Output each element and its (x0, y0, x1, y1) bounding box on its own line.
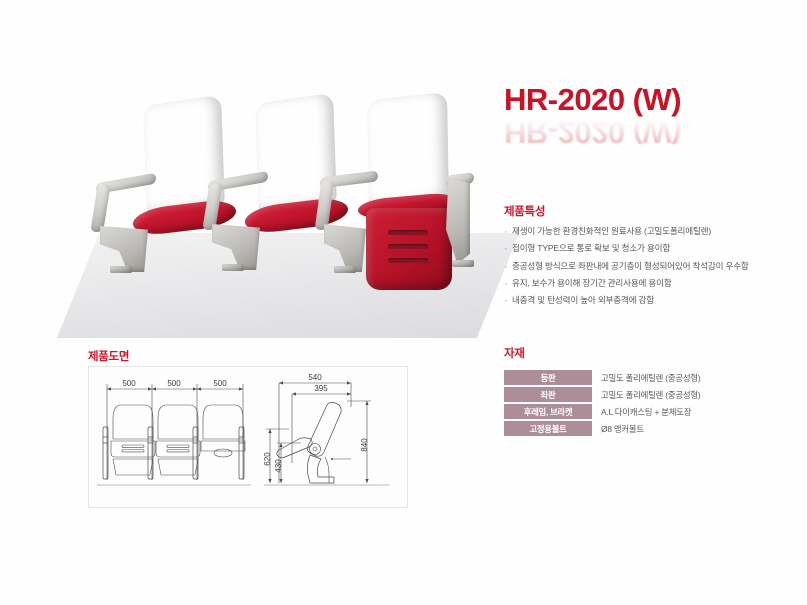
material-label: 좌판 (504, 387, 592, 402)
material-value: 고밀도 폴리에틸렌 (중공성형) (592, 370, 796, 385)
dim-500-3: 500 (213, 379, 227, 388)
table-row: 고정용볼트 Ø8 앵커볼트 (504, 421, 796, 436)
materials-table: 등판 고밀도 폴리에틸렌 (중공성형) 좌판 고밀도 폴리에틸렌 (중공성형) … (504, 368, 796, 438)
table-row: 좌판 고밀도 폴리에틸렌 (중공성형) (504, 387, 796, 402)
product-photo (48, 78, 493, 328)
material-label: 고정용볼트 (504, 421, 592, 436)
table-row: 등판 고밀도 폴리에틸렌 (중공성형) (504, 370, 796, 385)
page-title-reflection: HR-2020 (W) (504, 117, 804, 148)
dim-500-1: 500 (122, 379, 136, 388)
features-list: 재생이 가능한 환경친화적인 원료사용 (고밀도폴리에틸렌) 접이형 TYPE으… (504, 226, 796, 307)
features-section: 제품특성 재생이 가능한 환경친화적인 원료사용 (고밀도폴리에틸렌) 접이형 … (504, 203, 796, 313)
dim-840: 840 (360, 438, 369, 452)
material-value: 고밀도 폴리에틸렌 (중공성형) (592, 387, 796, 402)
materials-heading: 자재 (504, 345, 796, 361)
features-heading: 제품특성 (504, 203, 796, 219)
product-spec-sheet: HR-2020 (W) HR-2020 (W) 제품특성 재생이 가능한 환경친… (0, 0, 807, 605)
folded-seat-underside (366, 208, 452, 290)
material-value: Ø8 앵커볼트 (592, 421, 796, 436)
dim-430: 430 (274, 459, 283, 473)
page-title: HR-2020 (W) (504, 84, 804, 115)
dim-540: 540 (308, 373, 322, 382)
dim-620: 620 (263, 452, 272, 466)
dim-500-2: 500 (167, 379, 181, 388)
feature-item: 중공성형 방식으로 좌판내에 공기층이 형성되어있어 착석감이 우수함 (504, 261, 796, 273)
feature-item: 접이형 TYPE으로 통로 확보 및 청소가 용이함 (504, 243, 796, 255)
table-row: 후레임, 브라켓 A.L 다이캐스팅 + 분체도장 (504, 404, 796, 419)
dim-395: 395 (314, 384, 328, 393)
technical-drawing-panel: 500 500 500 540 395 840 620 430 (88, 366, 408, 508)
drawing-heading: 제품도면 (88, 348, 129, 364)
feature-item: 유지, 보수가 용이해 장기간 관리사용에 용이함 (504, 278, 796, 290)
feature-item: 재생이 가능한 환경친화적인 원료사용 (고밀도폴리에틸렌) (504, 226, 796, 238)
material-label: 등판 (504, 370, 592, 385)
drawing-svg: 500 500 500 540 395 840 620 430 (89, 367, 407, 507)
material-value: A.L 다이캐스팅 + 분체도장 (592, 404, 796, 419)
material-label: 후레임, 브라켓 (504, 404, 592, 419)
feature-item: 내충격 및 탄성력이 높아 외부충격에 강함 (504, 295, 796, 307)
materials-section: 자재 등판 고밀도 폴리에틸렌 (중공성형) 좌판 고밀도 폴리에틸렌 (중공성… (504, 345, 796, 438)
product-title-block: HR-2020 (W) HR-2020 (W) (504, 84, 804, 174)
